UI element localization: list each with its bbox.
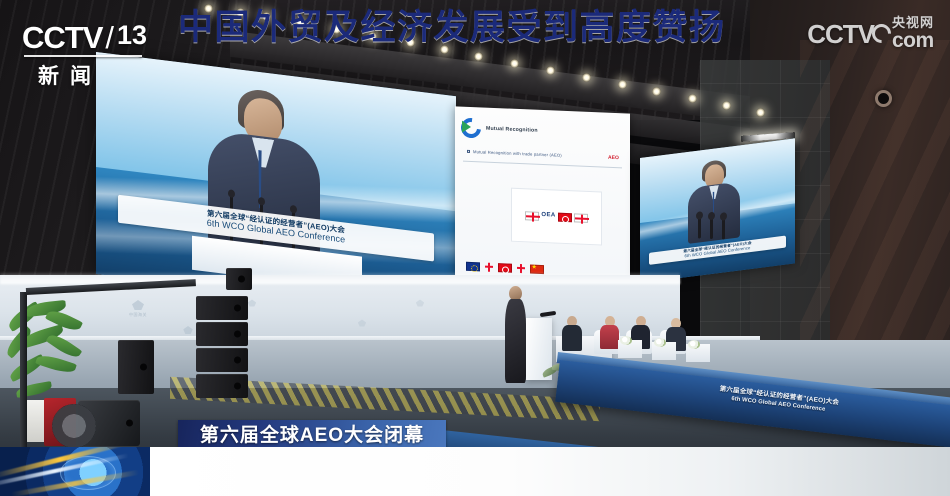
right-wall-sheen [800,40,950,370]
microphone [710,217,713,239]
mutual-recognition-logo-icon [461,118,481,139]
logo-slash-icon: / [105,22,114,53]
customs-emblem-icon [248,300,256,307]
watermark-domain: com [892,30,934,51]
oea-logo: OEA [541,212,555,222]
lower-third-globe-graphic [0,447,150,496]
cctv-wordmark: CCTV [22,22,102,53]
slide-divider [463,161,622,169]
flower-arrangement [688,340,700,349]
flower-arrangement [654,338,666,347]
flag-georgia-cross-icon [485,262,493,271]
backdrop-light-strip [0,272,680,284]
microphone [722,217,725,239]
flower-arrangement [620,336,632,345]
backdrop-logo [400,298,440,309]
watermark-right-block: 央视网 com [892,16,934,51]
cctv-wordmark: CCTV [807,21,874,47]
led-screen-center-slide: Mutual Recognition Mutual Recognition wi… [455,106,630,293]
backdrop-logo: 中国海关 [118,300,158,318]
customs-emblem-icon [132,300,144,310]
backdrop-logo [342,318,382,329]
line-array-speaker [196,374,248,398]
headline-text: 中国外贸及经济发展受到高度赞扬 [178,0,726,50]
aeo-badge: AEO [608,155,620,165]
spotlight [652,87,661,96]
line-array-speaker [196,296,248,320]
lower-third-headline-bar [150,447,950,496]
logo-top-row: CCTV / 13 [22,22,160,53]
channel-number: 13 [117,22,147,49]
bullet-marker-icon [467,150,470,153]
customs-emblem-icon [416,300,424,307]
slide-title: Mutual Recognition [486,126,538,134]
line-array-speaker [196,348,248,372]
headline-container: 中国外贸及经济发展受到高度赞扬 [178,0,726,49]
line-array-speaker [226,268,252,290]
kicker-text: 第六届全球AEO大会闭幕 [200,420,424,447]
flag-georgia [525,211,539,221]
slide-bullet: Mutual Recognition with trade partner (A… [467,149,562,158]
logo-underline [24,55,142,57]
spotlight [688,94,697,103]
channel-name-chinese: 新闻 [38,60,160,90]
wall-vent-icon [875,90,892,107]
cctv-com-watermark: CCTV 央视网 com [807,16,934,51]
customs-emblem-icon [183,326,193,334]
panel-person [600,316,619,348]
spotlight [546,66,555,75]
stage-monitor-speaker [118,340,154,394]
spotlight [582,73,591,82]
panel-person [562,316,582,350]
cctv13-channel-logo: CCTV / 13 新闻 [22,22,160,84]
spotlight [510,59,519,68]
led-screen-right: 第六届全球“经认证的经营者”(AEO)大会 6th WCO Global AEO… [640,138,795,283]
spotlight [474,52,483,61]
lower-third-kicker-tab: 第六届全球AEO大会闭幕 [178,420,446,447]
spotlight [756,108,765,117]
customs-emblem-icon [358,320,366,327]
microphone [698,216,701,238]
watermark-chinese: 央视网 [892,16,934,30]
truss-pole [20,292,27,452]
line-array-speaker [196,322,248,346]
stage-fan-icon [52,404,96,448]
slide-header: Mutual Recognition [461,113,624,150]
flag-eu [466,262,480,272]
speaker-at-podium [504,286,528,382]
spotlight [618,80,627,89]
spotlight [722,101,731,110]
broadcast-frame: 第六届全球“经认证的经营者”(AEO)大会 6th WCO Global AEO… [0,0,950,496]
